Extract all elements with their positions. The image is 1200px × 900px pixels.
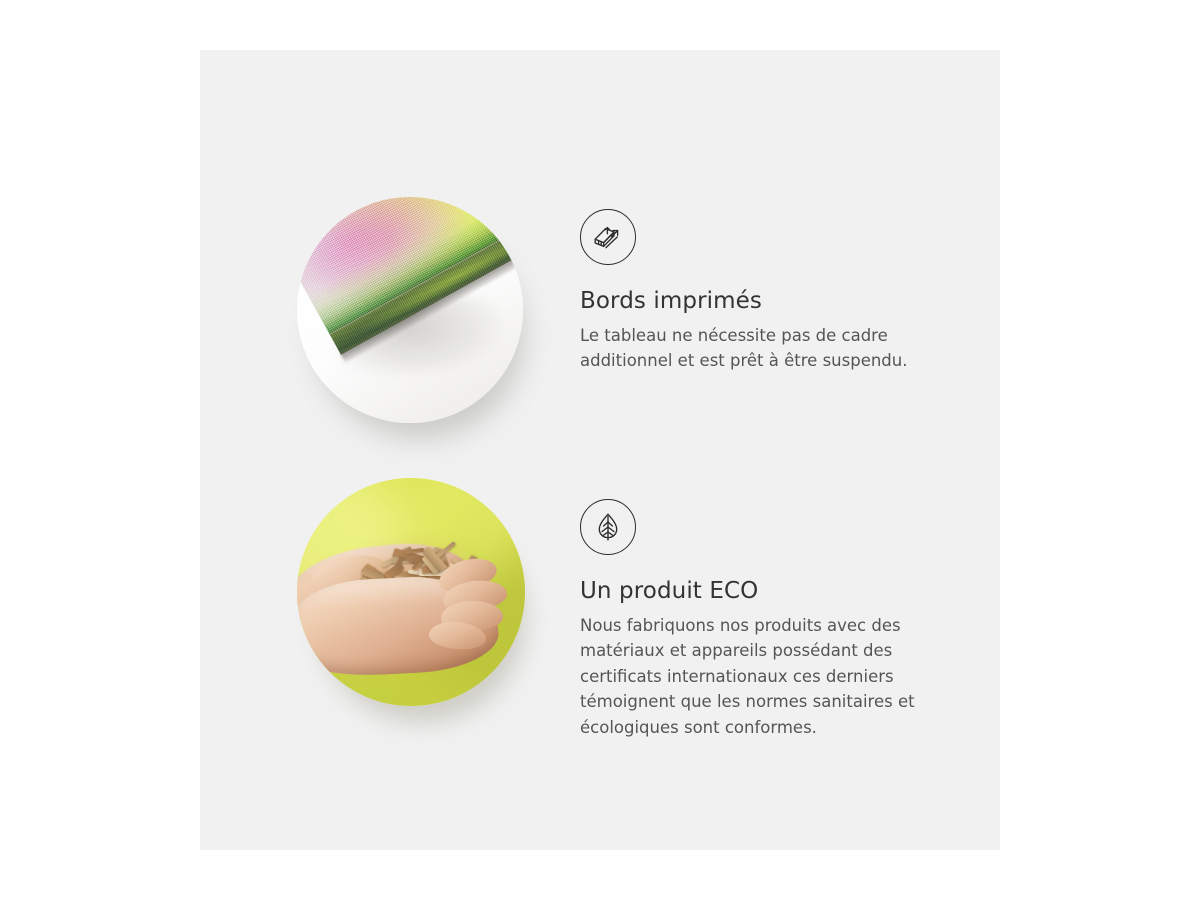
printed-edges-copy: Bords imprimés Le tableau ne nécessite p… [580, 209, 980, 374]
wrapped-canvas-edge-icon [580, 209, 636, 265]
feature-eco-product: Un produit ECO Nous fabriquons nos produ… [200, 450, 1000, 750]
canvas-corner-photo [297, 197, 523, 423]
feature-printed-edges: Bords imprimés Le tableau ne nécessite p… [200, 165, 1000, 465]
feature-description: Nous fabriquons nos produits avec des ma… [580, 613, 932, 741]
eco-photo-backdrop [297, 478, 525, 706]
feature-panel: Bords imprimés Le tableau ne nécessite p… [200, 50, 1000, 850]
feature-title: Un produit ECO [580, 578, 980, 606]
feature-title: Bords imprimés [580, 288, 980, 316]
feature-description: Le tableau ne nécessite pas de cadre add… [580, 323, 932, 374]
canvas-photo-backdrop [297, 197, 523, 423]
wood-chips-in-hands-photo [297, 478, 525, 706]
eco-product-copy: Un produit ECO Nous fabriquons nos produ… [580, 499, 980, 740]
leaf-icon [580, 499, 636, 555]
